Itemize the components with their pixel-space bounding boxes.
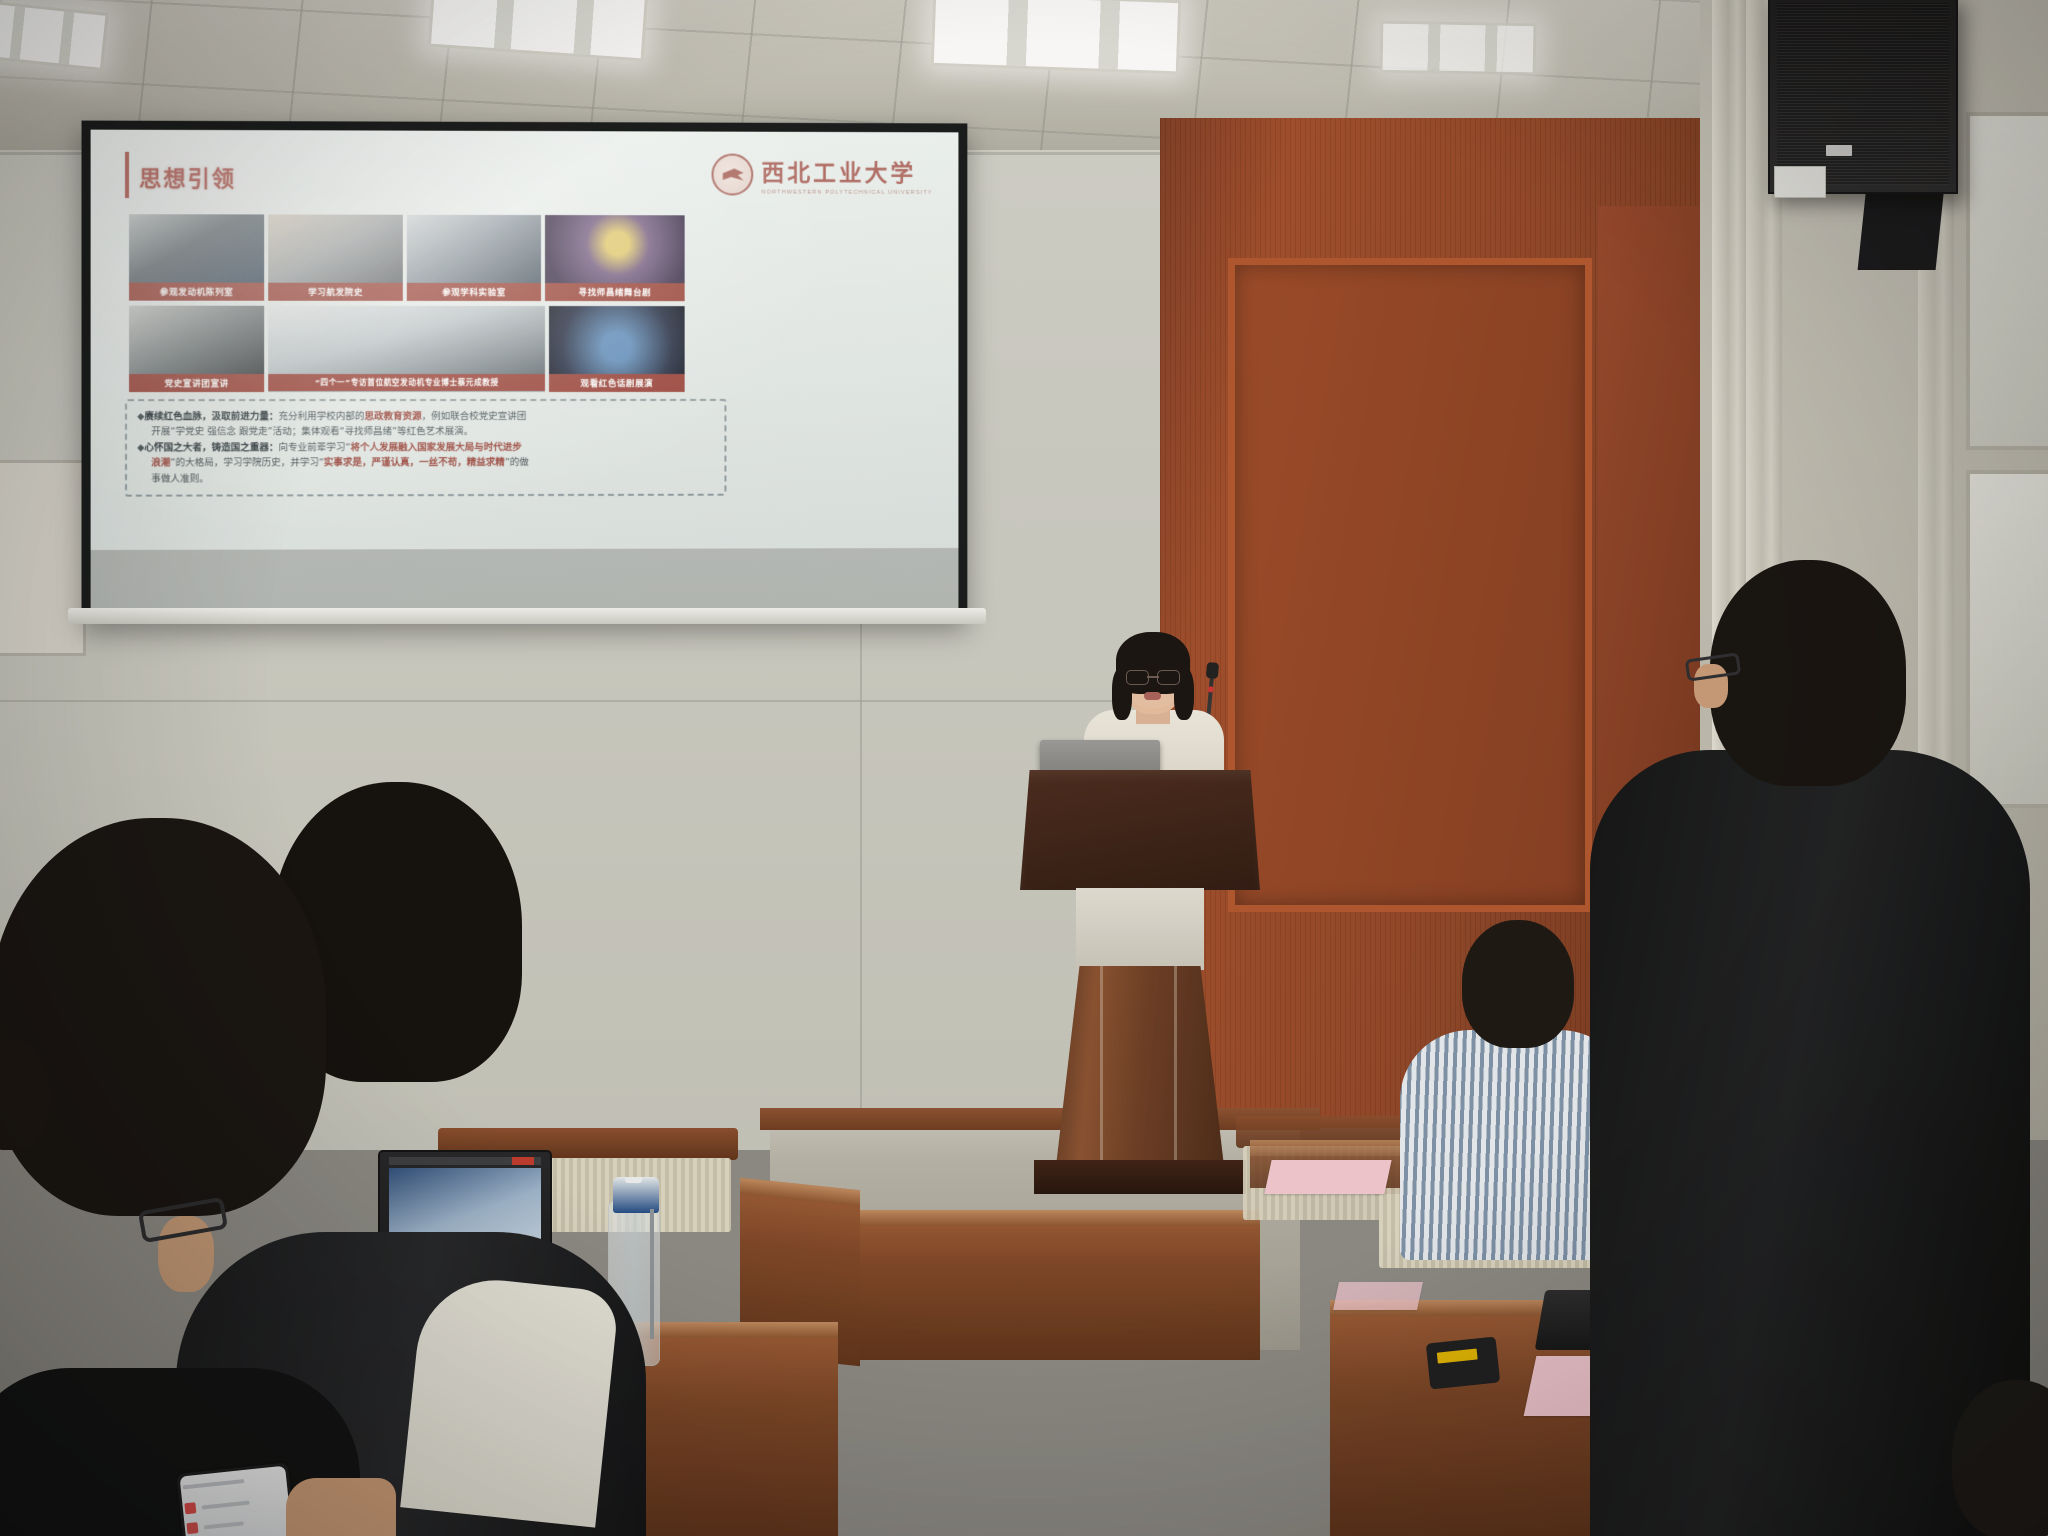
body-line-2: 开展“学党史 强信念 跟党走”活动；集体观看“寻找师昌绪”等红色艺术展演。 (137, 424, 714, 440)
photo-cell: 寻找师昌绪舞台剧 (545, 215, 685, 301)
logo-english-name: NORTHWESTERN POLYTECHNICAL UNIVERSITY (762, 190, 933, 196)
ceiling-light-fixture (0, 0, 109, 71)
photo-caption: 参观学科实验室 (407, 283, 541, 301)
bottle-straw (650, 1209, 654, 1339)
body-text: 向专业前辈学习“ (279, 442, 351, 453)
photo-thumb (268, 214, 403, 282)
photo-caption: 寻找师昌绪舞台剧 (545, 283, 685, 301)
foreground-hand (286, 1478, 396, 1536)
wall-speaker (1768, 0, 1958, 194)
wall-panel-board (0, 460, 86, 656)
photo-thumb (129, 306, 264, 374)
pink-handout (1264, 1160, 1391, 1194)
lectern-neck (1076, 888, 1204, 970)
ceiling-light-fixture (1380, 21, 1537, 76)
photo-cell: “四个一”专访首位航空发动机专业博士蔡元成教授 (268, 306, 545, 392)
photo-row-1: 参观发动机陈列室 学习航发院史 参观学科实验室 寻找师昌绪舞台剧 (129, 214, 691, 301)
smartphone (174, 1460, 298, 1536)
title-accent-bar (125, 152, 129, 198)
photo-cell: 观看红色话剧展演 (549, 306, 685, 392)
foreground-student-hair (0, 818, 326, 1216)
photo-thumb (549, 306, 685, 374)
body-text: 充分利用学校内部的 (279, 411, 365, 422)
body-text: 开展“学党史 强信念 跟党走”活动；集体观看“寻找师昌绪”等红色艺术展演。 (151, 426, 473, 437)
logo-chinese-name: 西北工业大学 (762, 154, 933, 188)
speaker-label-tag (1774, 166, 1826, 198)
standing-man-head (1710, 560, 1906, 786)
photo-thumb (545, 215, 685, 283)
body-lead: 赓续红色血脉，汲取前进力量： (144, 411, 278, 422)
body-emphasis: 将个人发展融入国家发展大局与时代进步 (350, 442, 521, 453)
phone-ui-avatar (184, 1502, 196, 1514)
lectern-top (1020, 770, 1260, 890)
photo-caption: “四个一”专访首位航空发动机专业博士蔡元成教授 (268, 374, 545, 391)
body-line-5: 事做人准则。 (137, 470, 714, 486)
slide-photo-grid: 参观发动机陈列室 学习航发院史 参观学科实验室 寻找师昌绪舞台剧 (129, 214, 691, 397)
body-text: ，例如联合校党史宣讲团 (422, 411, 527, 422)
body-line-4: 浪潮”的大格局，学习学院历史，并学习“实事求是，严谨认真，一丝不苟，精益求精”的… (137, 455, 714, 471)
body-line-1: ◆赓续红色血脉，汲取前进力量：充分利用学校内部的思政教育资源，例如联合校党史宣讲… (137, 409, 714, 425)
slide-header: 思想引领 西北工业大学 NORTHWESTERN POLYTECHNICAL U… (91, 158, 959, 208)
body-text: ”的做 (505, 457, 529, 468)
photo-thumb (407, 215, 541, 283)
pink-handout (1333, 1282, 1423, 1310)
lectern (1020, 770, 1260, 1190)
photo-row-2: 党史宣讲团宣讲 “四个一”专访首位航空发动机专业博士蔡元成教授 观看红色话剧展演 (129, 306, 691, 392)
photo-cell: 参观发动机陈列室 (129, 214, 264, 301)
body-text: 事做人准则。 (151, 473, 209, 484)
standing-man-black (1590, 560, 2030, 1536)
photo-thumb (129, 214, 264, 283)
photo-caption: 观看红色话剧展演 (549, 374, 685, 392)
speaker-grille (1777, 3, 1949, 185)
slide-title: 思想引领 (139, 161, 236, 193)
body-emphasis: 实事求是，严谨认真，一丝不苟，精益求精 (324, 457, 505, 468)
speaker-bracket (1858, 186, 1945, 270)
lecture-hall-photo: 思想引领 西北工业大学 NORTHWESTERN POLYTECHNICAL U… (0, 0, 2048, 1536)
photo-cell: 党史宣讲团宣讲 (129, 306, 264, 392)
student-sleeve (400, 1272, 620, 1527)
screen-lower-band (91, 548, 959, 614)
photo-thumb (268, 306, 545, 374)
remote-label (1437, 1349, 1478, 1364)
front-desk (790, 1210, 1260, 1360)
student-head (1462, 920, 1574, 1048)
body-emphasis: 思政教育资源 (365, 411, 422, 422)
photo-cell: 学习航发院史 (268, 214, 403, 300)
presenter-mouth (1144, 692, 1161, 700)
screen-bottom-bar (68, 608, 986, 624)
body-text: ”的大格局，学习学院历史，并学习“ (170, 457, 323, 468)
phone-ui-avatar (186, 1522, 198, 1534)
screen-surface: 思想引领 西北工业大学 NORTHWESTERN POLYTECHNICAL U… (91, 130, 959, 615)
glasses-icon (1126, 670, 1180, 683)
speaker-brand-badge (1826, 145, 1852, 156)
photo-caption: 学习航发院史 (268, 283, 403, 301)
wall-seam (0, 700, 1180, 702)
photo-cell: 参观学科实验室 (407, 215, 541, 301)
projection-screen: 思想引领 西北工业大学 NORTHWESTERN POLYTECHNICAL U… (82, 121, 968, 624)
body-emphasis: 浪潮 (151, 458, 170, 469)
body-lead: 心怀国之大者，铸造国之重器： (144, 442, 278, 453)
wood-panel-inset (1228, 258, 1592, 912)
body-line-3: ◆心怀国之大者，铸造国之重器：向专业前辈学习“将个人发展融入国家发展大局与时代进… (137, 440, 714, 456)
slide-body-text: ◆赓续红色血脉，汲取前进力量：充分利用学校内部的思政教育资源，例如联合校党史宣讲… (125, 399, 726, 497)
presenter-hair (1116, 632, 1190, 694)
lectern-base (1034, 1160, 1246, 1194)
window-pane (1966, 112, 2048, 450)
npu-emblem-icon (712, 154, 754, 196)
university-logo: 西北工业大学 NORTHWESTERN POLYTECHNICAL UNIVER… (712, 154, 933, 196)
remote-control (1426, 1336, 1500, 1389)
presentation-slide: 思想引领 西北工业大学 NORTHWESTERN POLYTECHNICAL U… (91, 130, 959, 615)
ceiling-light-fixture (931, 0, 1181, 74)
photo-caption: 党史宣讲团宣讲 (129, 374, 264, 392)
lectern-column (1056, 966, 1224, 1166)
photo-caption: 参观发动机陈列室 (129, 283, 264, 301)
